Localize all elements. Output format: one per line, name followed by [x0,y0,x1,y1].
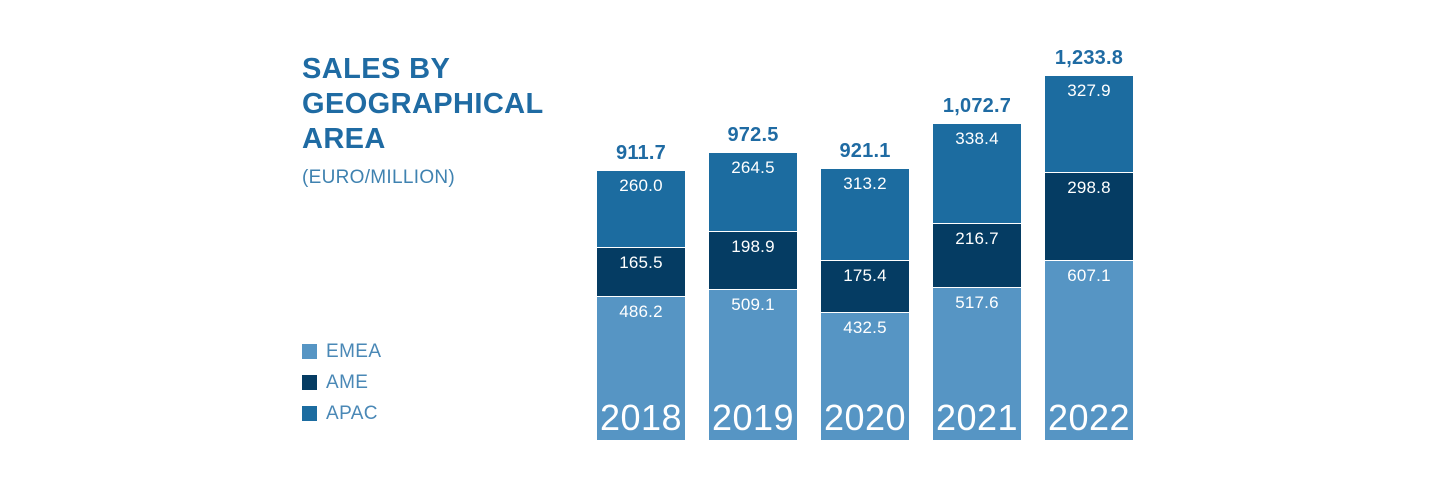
bar-segment-emea[interactable]: 607.12022 [1044,260,1134,440]
segment-value-label: 298.8 [1045,178,1133,198]
bar-group-2018[interactable]: 260.0165.5486.22018911.7 [596,170,686,440]
segment-value-label: 517.6 [933,293,1021,313]
bar-segment-emea[interactable]: 486.22018 [596,296,686,440]
bar-segment-apac[interactable]: 338.4 [932,123,1022,223]
bar-stack: 264.5198.9509.12019972.5 [708,152,798,440]
bar-segment-ame[interactable]: 216.7 [932,223,1022,287]
segment-value-label: 165.5 [597,253,685,273]
bar-year-label: 2019 [709,398,797,438]
segment-value-label: 327.9 [1045,81,1133,101]
square-swatch-icon [302,406,317,421]
bar-total-label: 972.5 [708,124,798,147]
bar-segment-ame[interactable]: 175.4 [820,260,910,312]
segment-value-label: 509.1 [709,295,797,315]
segment-value-label: 264.5 [709,158,797,178]
bar-total-label: 921.1 [820,140,910,163]
chart-legend: EMEAAMEAPAC [302,336,381,429]
bar-stack: 260.0165.5486.22018911.7 [596,170,686,440]
segment-value-label: 607.1 [1045,266,1133,286]
plot-area: 260.0165.5486.22018911.7264.5198.9509.12… [596,40,1166,450]
square-swatch-icon [302,375,317,390]
bar-segment-emea[interactable]: 509.12019 [708,289,798,440]
segment-value-label: 216.7 [933,229,1021,249]
bar-segment-emea[interactable]: 517.62021 [932,287,1022,440]
segment-value-label: 338.4 [933,129,1021,149]
segment-value-label: 175.4 [821,266,909,286]
bar-group-2020[interactable]: 313.2175.4432.52020921.1 [820,168,910,440]
bar-stack: 327.9298.8607.120221,233.8 [1044,75,1134,440]
legend-item-label: EMEA [326,342,381,361]
bar-segment-apac[interactable]: 260.0 [596,170,686,247]
title-block: SALES BY GEOGRAPHICAL AREA (EURO/MILLION… [302,52,602,190]
legend-item-emea[interactable]: EMEA [302,336,381,367]
bar-year-label: 2018 [597,398,685,438]
bar-segment-emea[interactable]: 432.52020 [820,312,910,440]
bar-segment-ame[interactable]: 198.9 [708,231,798,290]
bar-year-label: 2020 [821,398,909,438]
bar-segment-apac[interactable]: 264.5 [708,152,798,230]
bar-year-label: 2021 [933,398,1021,438]
legend-item-apac[interactable]: APAC [302,398,381,429]
bar-stack: 313.2175.4432.52020921.1 [820,168,910,440]
bar-segment-ame[interactable]: 298.8 [1044,172,1134,260]
segment-value-label: 198.9 [709,237,797,257]
bar-group-2021[interactable]: 338.4216.7517.620211,072.7 [932,123,1022,440]
chart-canvas: SALES BY GEOGRAPHICAL AREA (EURO/MILLION… [0,0,1440,500]
segment-value-label: 486.2 [597,302,685,322]
legend-item-label: APAC [326,404,378,423]
legend-item-label: AME [326,373,368,392]
bar-segment-apac[interactable]: 327.9 [1044,75,1134,172]
segment-value-label: 260.0 [597,176,685,196]
bar-segment-ame[interactable]: 165.5 [596,247,686,296]
bar-year-label: 2022 [1045,398,1133,438]
segment-value-label: 432.5 [821,318,909,338]
bar-total-label: 1,233.8 [1044,47,1134,70]
bar-segment-apac[interactable]: 313.2 [820,168,910,261]
bar-group-2019[interactable]: 264.5198.9509.12019972.5 [708,152,798,440]
chart-title: SALES BY GEOGRAPHICAL AREA [302,52,602,157]
square-swatch-icon [302,344,317,359]
segment-value-label: 313.2 [821,174,909,194]
bar-total-label: 911.7 [596,142,686,165]
bar-total-label: 1,072.7 [932,95,1022,118]
bar-stack: 338.4216.7517.620211,072.7 [932,123,1022,440]
legend-item-ame[interactable]: AME [302,367,381,398]
bar-group-2022[interactable]: 327.9298.8607.120221,233.8 [1044,75,1134,440]
chart-subtitle: (EURO/MILLION) [302,166,602,190]
